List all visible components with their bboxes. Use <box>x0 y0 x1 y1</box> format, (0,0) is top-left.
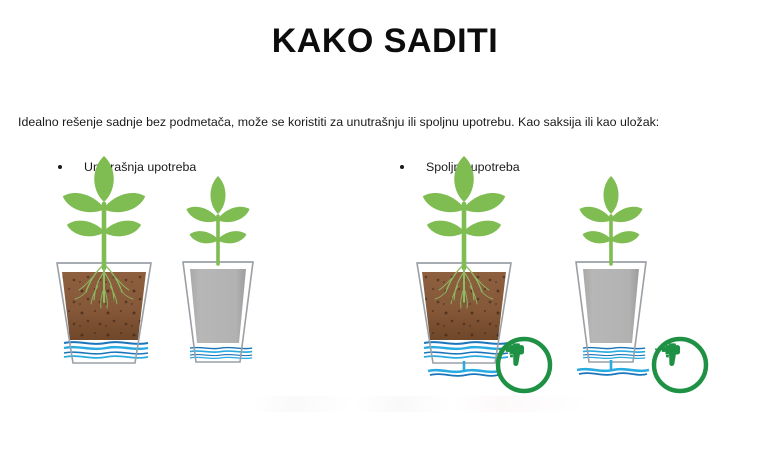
illustration-canvas <box>0 0 770 458</box>
pot-outline <box>576 262 646 362</box>
drill-icon <box>654 339 706 391</box>
water-reservoir-icon <box>424 342 508 358</box>
water-puddle-icon <box>428 370 500 376</box>
bullet-item-outdoor: Spoljna upotreba <box>400 160 520 174</box>
bullet-dot-icon <box>400 165 404 169</box>
bullet-label-outdoor: Spoljna upotreba <box>426 160 520 174</box>
pot-indoor-insert <box>183 176 253 362</box>
water-reservoir-icon <box>583 347 645 358</box>
water-reservoir-icon <box>64 342 148 358</box>
pot-outdoor-insert <box>576 176 649 375</box>
roots-icon <box>435 258 493 308</box>
soil-fill <box>62 272 146 340</box>
water-reservoir-icon <box>190 347 252 358</box>
soil-fill <box>422 272 506 340</box>
drill-icon <box>498 339 550 391</box>
bullet-item-indoor: Unutrašnja upotreba <box>58 160 196 174</box>
pot-indoor-soil <box>57 156 151 363</box>
soil-speckles <box>62 272 146 340</box>
plant-icon <box>577 176 644 264</box>
water-puddle-icon <box>577 369 649 375</box>
page-title: KAKO SADITI <box>0 22 770 61</box>
intro-paragraph: Idealno rešenje sadnje bez podmetača, mo… <box>18 114 758 130</box>
pot-outline <box>57 263 151 363</box>
page-watermark <box>255 396 585 412</box>
liner-insert <box>583 269 639 343</box>
roots-icon <box>75 258 133 308</box>
plant-icon <box>184 176 251 264</box>
bullet-dot-icon <box>58 165 62 169</box>
pot-outline <box>183 262 253 362</box>
soil-speckles <box>422 272 506 340</box>
liner-insert <box>190 269 246 343</box>
pot-outline <box>417 263 511 363</box>
bullet-label-indoor: Unutrašnja upotreba <box>84 160 196 174</box>
pot-outdoor-soil <box>417 156 511 376</box>
